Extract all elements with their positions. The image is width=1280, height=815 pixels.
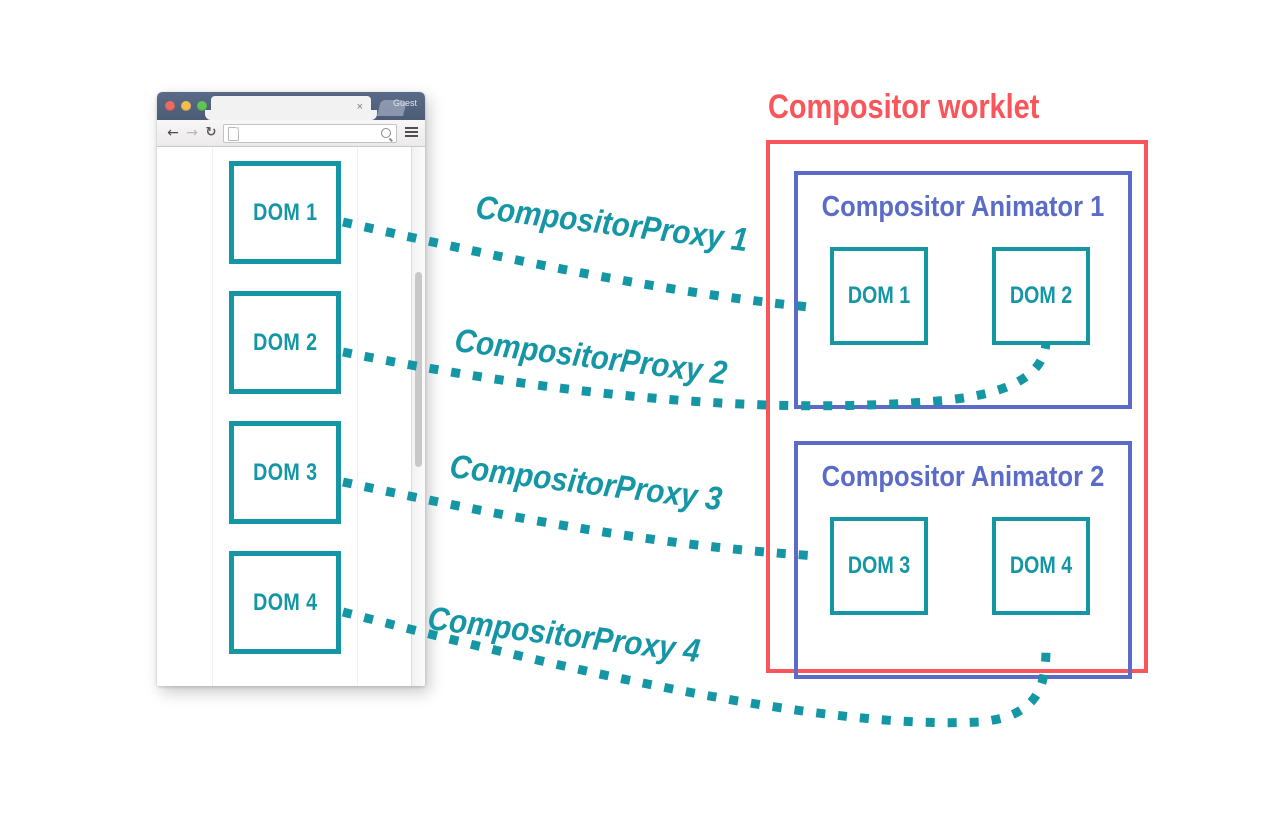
layout-guide [212,147,213,686]
page-icon [228,127,239,141]
proxy-label-4: CompositorProxy 4 [426,599,703,670]
proxy-label-2: CompositorProxy 2 [453,321,730,392]
menu-line [405,127,418,129]
search-icon[interactable] [381,128,391,138]
compositor-worklet-panel: Compositor Animator 1 DOM 1 DOM 2 Compos… [766,140,1148,673]
page-dom-box-1: DOM 1 [229,161,341,264]
proxy-label-3: CompositorProxy 3 [448,447,725,518]
page-dom-box-3: DOM 3 [229,421,341,524]
dom-box-label: DOM 3 [253,459,317,487]
animator-1-dom-box-2: DOM 2 [992,247,1090,345]
dom-box-label: DOM 4 [1010,552,1072,580]
animator-2-dom-box-1: DOM 3 [830,517,928,615]
scrollbar-thumb[interactable] [415,272,422,467]
animator-title: Compositor Animator 2 [818,461,1108,494]
back-icon[interactable]: ← [165,125,181,141]
layout-guide [357,147,358,686]
close-window-icon[interactable] [165,101,175,111]
hamburger-menu-icon[interactable] [405,127,418,138]
dom-box-label: DOM 2 [253,329,317,357]
page-dom-box-2: DOM 2 [229,291,341,394]
dom-box-label: DOM 4 [253,589,317,617]
animator-2-dom-box-2: DOM 4 [992,517,1090,615]
menu-line [405,135,418,137]
compositor-animator-2: Compositor Animator 2 DOM 3 DOM 4 [794,441,1132,679]
menu-line [405,131,418,133]
proxy-label-1: CompositorProxy 1 [474,188,751,259]
page-dom-box-4: DOM 4 [229,551,341,654]
compositor-animator-1: Compositor Animator 1 DOM 1 DOM 2 [794,171,1132,409]
dom-box-label: DOM 3 [848,552,910,580]
profile-label[interactable]: Guest [393,98,417,108]
dom-box-label: DOM 1 [253,199,317,227]
browser-toolbar: ← → ↻ [157,120,425,147]
reload-icon[interactable]: ↻ [203,125,219,141]
close-tab-icon[interactable]: × [357,100,363,114]
browser-tab[interactable]: × [211,96,371,120]
dom-box-label: DOM 1 [848,282,910,310]
browser-viewport: DOM 1 DOM 2 DOM 3 DOM 4 [157,147,425,686]
browser-tab-bar: × Guest [157,92,425,120]
minimize-window-icon[interactable] [181,101,191,111]
window-controls [165,101,207,111]
dom-box-label: DOM 2 [1010,282,1072,310]
browser-window: × Guest ← → ↻ DOM 1 DOM 2 DOM 3 DOM [157,92,425,686]
forward-icon[interactable]: → [184,125,200,141]
worklet-title: Compositor worklet [768,88,1039,127]
vertical-scrollbar[interactable] [411,147,425,686]
address-bar[interactable] [223,124,397,143]
animator-title: Compositor Animator 1 [818,191,1108,224]
animator-1-dom-box-1: DOM 1 [830,247,928,345]
